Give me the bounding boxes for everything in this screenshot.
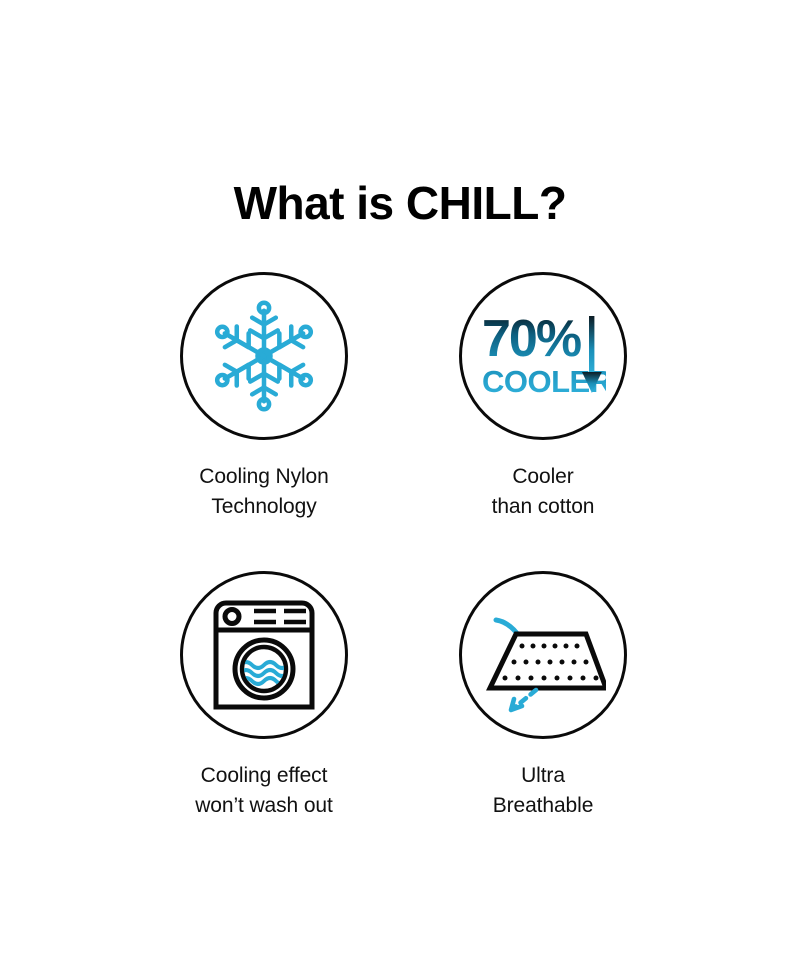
feature-label: Cooling effect won’t wash out	[195, 761, 333, 822]
feature-label: Cooling Nylon Technology	[199, 462, 328, 523]
page-title: What is CHILL?	[0, 178, 800, 229]
feature-cooling-effect-wont-wash-out: Cooling effect won’t wash out	[0, 571, 400, 822]
feature-cooler-than-cotton: 70% COOLER Cooler than cotton	[400, 272, 800, 523]
feature-badge	[459, 571, 627, 739]
feature-badge	[180, 571, 348, 739]
feature-cooling-nylon-technology: Cooling Nylon Technology	[0, 272, 400, 523]
feature-label: Ultra Breathable	[493, 761, 594, 822]
chill-feature-infographic: What is CHILL?	[0, 0, 800, 977]
feature-badge	[180, 272, 348, 440]
feature-label: Cooler than cotton	[492, 462, 595, 523]
feature-badge: 70% COOLER	[459, 272, 627, 440]
washing-machine-icon	[210, 597, 318, 713]
feature-ultra-breathable: Ultra Breathable	[400, 571, 800, 822]
snowflake-icon	[205, 297, 323, 415]
feature-grid: Cooling Nylon Technology	[0, 272, 800, 822]
svg-text:70%: 70%	[482, 310, 581, 368]
70-percent-cooler-icon: 70% COOLER	[480, 308, 606, 404]
breathable-fabric-icon	[480, 596, 606, 714]
